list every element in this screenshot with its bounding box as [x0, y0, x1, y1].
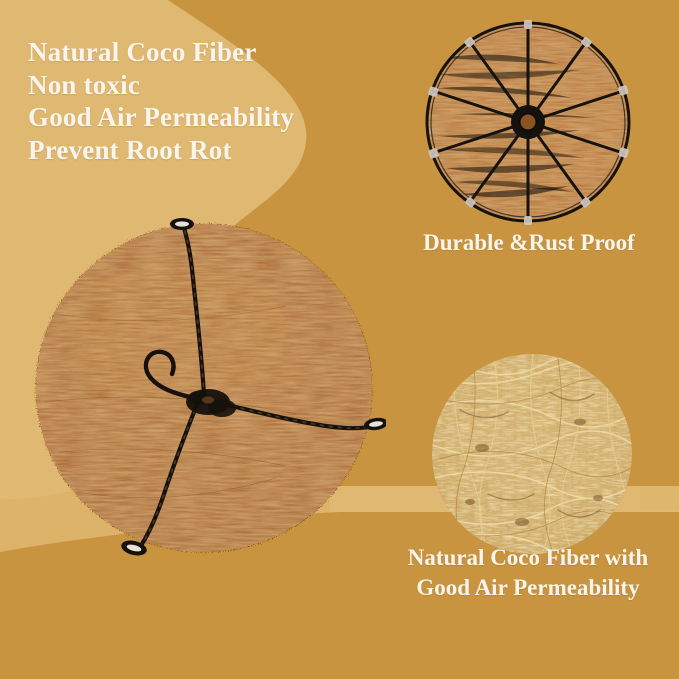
caption-natural-coco-fiber: Natural Coco Fiber with Good Air Permeab…	[378, 543, 678, 603]
background-right-edge-step	[640, 486, 679, 510]
headline-line-4: Prevent Root Rot	[28, 134, 448, 167]
headline-line-1: Natural Coco Fiber	[28, 36, 448, 69]
caption-bottom-line-1: Natural Coco Fiber with	[378, 543, 678, 573]
fiber-strand-texture	[430, 352, 634, 556]
caption-bottom-line-2: Good Air Permeability	[378, 573, 678, 603]
headline-block: Natural Coco Fiber Non toxic Good Air Pe…	[28, 36, 448, 167]
wire-basket-photo	[420, 18, 636, 230]
product-infographic: Natural Coco Fiber Non toxic Good Air Pe…	[0, 0, 679, 679]
headline-line-3: Good Air Permeability	[28, 101, 448, 134]
headline-line-2: Non toxic	[28, 69, 448, 102]
caption-durable-rust-proof: Durable &Rust Proof	[384, 228, 674, 258]
fiber-closeup-photo	[430, 352, 634, 556]
coco-liner-photo	[26, 212, 386, 560]
